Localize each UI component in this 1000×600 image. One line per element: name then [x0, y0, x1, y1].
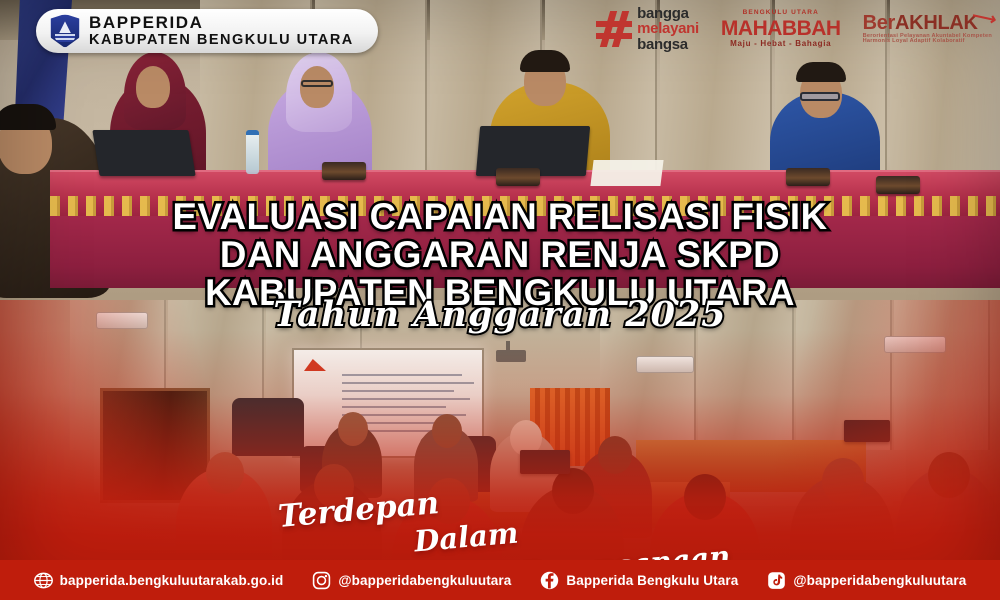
footer-item-tiktok[interactable]: @bapperidabengkuluutara: [767, 571, 966, 590]
footer-item-instagram[interactable]: @bapperidabengkuluutara: [312, 571, 511, 590]
bmb-word-2: melayani: [637, 21, 699, 36]
footer-social-bar: bapperida.bengkuluutarakab.go.id @bapper…: [0, 560, 1000, 600]
bmb-word-1: bangga: [637, 6, 699, 21]
berakhlak-values-line2: Harmonis Loyal Adaptif Kolaboratif: [863, 39, 992, 45]
footer-item-facebook[interactable]: Bapperida Bengkulu Utara: [540, 571, 738, 590]
org-name-line2: KABUPATEN BENGKULU UTARA: [89, 32, 354, 48]
instagram-icon: [312, 571, 331, 590]
website-label: bapperida.bengkuluutarakab.go.id: [60, 573, 284, 588]
berakhlak-suffix: AKHLAK: [895, 12, 978, 34]
tiktok-icon: [767, 571, 786, 590]
berakhlak-prefix: Ber: [863, 12, 895, 34]
photo-audience-scene: [0, 300, 1000, 600]
hashtag-icon: [597, 12, 631, 46]
header-badge: BAPPERIDA KABUPATEN BENGKULU UTARA: [36, 9, 378, 53]
logo-bangga-melayani-bangsa: bangga melayani bangsa: [597, 6, 699, 52]
footer-item-website[interactable]: bapperida.bengkuluutarakab.go.id: [34, 571, 284, 590]
bmb-word-3: bangsa: [637, 37, 699, 52]
logo-lockup-group: bangga melayani bangsa BENGKULU UTARA MA…: [597, 6, 992, 52]
instagram-label: @bapperidabengkuluutara: [338, 573, 511, 588]
globe-icon: [34, 571, 53, 590]
facebook-icon: [540, 571, 559, 590]
mahabbah-wordmark: MAHABBAH: [721, 18, 841, 39]
org-name-line1: BAPPERIDA: [89, 13, 354, 32]
logo-berakhlak: BerAKHLAK ⟶ Berorientasi Pelayanan Akunt…: [863, 13, 992, 45]
mahabbah-slogan: Maju - Hebat - Bahagia: [721, 40, 841, 48]
facebook-label: Bapperida Bengkulu Utara: [566, 573, 738, 588]
bapperida-crest-icon: [50, 14, 80, 48]
logo-mahabbah: BENGKULU UTARA MAHABBAH Maju - Hebat - B…: [721, 10, 841, 48]
poster-canvas: BAPPERIDA KABUPATEN BENGKULU UTARA bangg…: [0, 0, 1000, 600]
background-photo: [0, 0, 1000, 600]
mahabbah-region-label: BENGKULU UTARA: [721, 10, 841, 17]
tiktok-label: @bapperidabengkuluutara: [793, 573, 966, 588]
check-swoosh-icon: ⟶: [970, 6, 997, 28]
